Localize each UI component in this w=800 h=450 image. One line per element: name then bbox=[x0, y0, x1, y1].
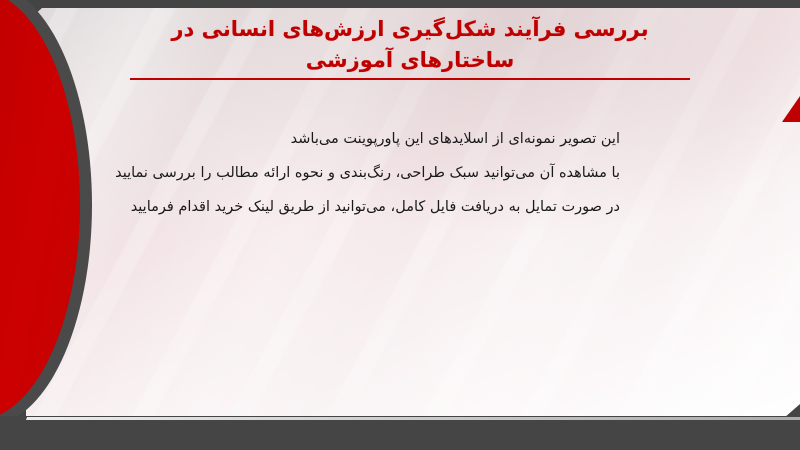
title-line-2: ساختارهای آموزشی bbox=[120, 45, 700, 76]
bottom-bar-highlight bbox=[26, 417, 800, 420]
slide-body-text: این تصویر نمونه‌ای از اسلایدهای این پاور… bbox=[60, 122, 620, 224]
title-underline-rule bbox=[130, 78, 690, 80]
body-line-3: در صورت تمایل به دریافت فایل کامل، می‌تو… bbox=[60, 190, 620, 224]
slide-title: بررسی فرآیند شکل‌گیری ارزش‌های انسانی در… bbox=[120, 14, 700, 76]
bottom-frame-bar bbox=[0, 416, 800, 450]
presentation-slide: بررسی فرآیند شکل‌گیری ارزش‌های انسانی در… bbox=[0, 0, 800, 450]
body-line-2: با مشاهده آن می‌توانید سبک طراحی، رنگ‌بن… bbox=[60, 156, 620, 190]
body-line-1: این تصویر نمونه‌ای از اسلایدهای این پاور… bbox=[60, 122, 620, 156]
title-line-1: بررسی فرآیند شکل‌گیری ارزش‌های انسانی در bbox=[120, 14, 700, 45]
